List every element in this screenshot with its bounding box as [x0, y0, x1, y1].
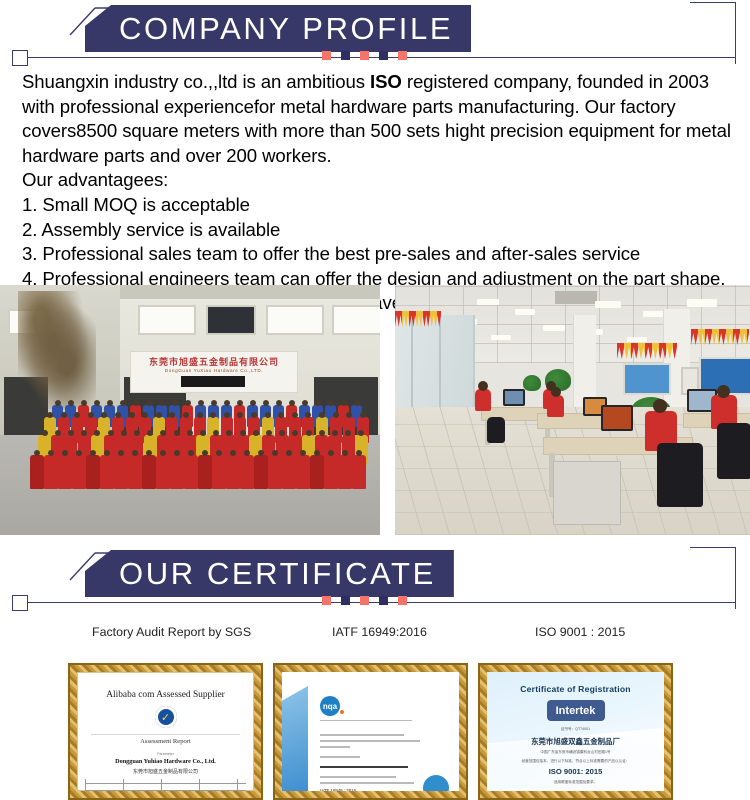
staff-head [68, 430, 74, 436]
staff-member [198, 455, 212, 489]
worker-head [551, 387, 561, 397]
window [266, 305, 324, 335]
staff-member [86, 455, 100, 489]
alibaba-assessed-supplier-certificate[interactable]: Alibaba com Assessed Supplier ✓ Assessme… [68, 663, 263, 800]
staff-head [253, 430, 259, 436]
signboard-english-text: DongGuan YuXiao Hardware Co.,LTD. [131, 368, 297, 373]
header-dot-5 [398, 51, 407, 60]
text-line [320, 776, 396, 778]
staff-head [118, 450, 124, 456]
staff-member [44, 455, 58, 489]
staff-head [174, 450, 180, 456]
staff-head [276, 400, 282, 406]
staff-head [272, 450, 278, 456]
staff-head [55, 400, 61, 406]
ceiling-light [687, 299, 717, 307]
nqa-logo-icon: nqa [320, 696, 340, 716]
building-roof [118, 285, 380, 299]
staff-head [224, 412, 230, 418]
staff-head [48, 450, 54, 456]
notice-board [623, 363, 671, 395]
certificate-address-cn: 中国广东省东莞市横沥镇康科台山村田路1号 [487, 750, 664, 755]
staff-head [240, 430, 246, 436]
staff-head [34, 450, 40, 456]
text-line [320, 746, 350, 748]
staff-member [268, 455, 282, 489]
office-photo [395, 285, 750, 535]
company-profile-header: COMPANY PROFILE [0, 0, 750, 68]
staff-head [61, 412, 67, 418]
certificate-label: Factory Audit Report by SGS [92, 625, 251, 639]
profile-intro-paragraph: Shuangxin industry co.,,ltd is an ambiti… [22, 70, 734, 168]
staff-head [211, 400, 217, 406]
certificate-footnote-cn: 适用覆盖标准范围及要求。 [487, 780, 664, 785]
staff-head [146, 400, 152, 406]
staff-head [314, 450, 320, 456]
desktop-pc-tower [553, 461, 621, 525]
led-display [181, 376, 245, 387]
staff-head [292, 412, 298, 418]
staff-head [328, 400, 334, 406]
potted-plant [523, 375, 541, 391]
staff-member [156, 455, 170, 489]
office-chair [717, 423, 750, 479]
intertek-iso9001-certificate[interactable]: Certificate of Registration Intertek 证书号… [478, 663, 673, 800]
advantage-item: 2. Assembly service is available [22, 218, 734, 243]
certificate-side-band: Registration [282, 686, 308, 791]
section-title: OUR CERTIFICATE [119, 558, 436, 589]
staff-head [360, 412, 366, 418]
staff-head [172, 400, 178, 406]
certificate-company-name-cn: 东莞市旭盛五金制品有限公司 [77, 768, 254, 775]
window [206, 305, 256, 335]
certificate-title: Certificate of Registration [487, 684, 664, 694]
header-corner-square-icon [12, 595, 28, 611]
nqa-iatf-certificate[interactable]: Registration nqa IATF 16949 : 2016 [273, 663, 468, 800]
staff-head [315, 400, 321, 406]
staff-head [341, 400, 347, 406]
factory-signboard: 东莞市旭盛五金制品有限公司 DongGuan YuXiao Hardware C… [130, 351, 298, 393]
header-dot-3 [360, 596, 369, 605]
staff-head [68, 400, 74, 406]
ceiling-light [543, 325, 565, 331]
staff-head [237, 400, 243, 406]
staff-head [289, 400, 295, 406]
company-profile-title-plate: COMPANY PROFILE [85, 5, 471, 52]
staff-head [121, 430, 127, 436]
text-line [320, 756, 360, 758]
header-dot-4 [379, 596, 388, 605]
staff-head [342, 450, 348, 456]
certificate-param-label: Parameter [77, 752, 254, 756]
factory-group-photo: 东莞市旭盛五金制品有限公司 DongGuan YuXiao Hardware C… [0, 285, 380, 535]
nqa-logo-text: nqa [323, 702, 337, 711]
staff-head [183, 412, 189, 418]
staff-member [114, 455, 128, 489]
company-profile-text: Shuangxin industry co.,,ltd is an ambiti… [22, 70, 734, 316]
certificate-image-row: Alibaba com Assessed Supplier ✓ Assessme… [0, 663, 750, 800]
staff-member [128, 455, 142, 489]
certificate-standard: IATF 16949 : 2016 [320, 788, 356, 791]
monitor [503, 389, 525, 406]
staff-head [265, 412, 271, 418]
staff-head [263, 400, 269, 406]
text-line [320, 740, 420, 742]
our-certificate-header: OUR CERTIFICATE [0, 545, 750, 613]
header-dot-1 [322, 51, 331, 60]
header-dot-row [322, 51, 407, 60]
office-chair [487, 417, 505, 443]
staff-head [244, 450, 250, 456]
staff-head [224, 400, 230, 406]
header-dot-1 [322, 596, 331, 605]
staff-head [197, 412, 203, 418]
staff-head [306, 430, 312, 436]
staff-member [30, 455, 44, 489]
certificate-label-row: Factory Audit Report by SGS IATF 16949:2… [0, 625, 750, 647]
staff-member [338, 455, 352, 489]
staff-head [159, 400, 165, 406]
alibaba-seal-icon: ✓ [155, 706, 177, 728]
header-dot-row [322, 596, 407, 605]
staff-head [286, 450, 292, 456]
staff-head [332, 430, 338, 436]
staff-member [282, 455, 296, 489]
window [138, 305, 196, 335]
staff-head [302, 400, 308, 406]
staff-head [174, 430, 180, 436]
staff-member [100, 455, 114, 489]
advantage-item: 3. Professional sales team to offer the … [22, 242, 734, 267]
staff-head [250, 400, 256, 406]
header-dot-3 [360, 51, 369, 60]
tree [18, 291, 96, 409]
staff-head [188, 450, 194, 456]
worker-head [478, 381, 488, 391]
certificate-label: ISO 9001 : 2015 [535, 625, 625, 639]
office-worker [475, 389, 491, 411]
staff-group [0, 403, 380, 498]
factory-photo-row: 东莞市旭盛五金制品有限公司 DongGuan YuXiao Hardware C… [0, 285, 750, 535]
ceiling-light [515, 309, 535, 315]
staff-head [356, 450, 362, 456]
staff-member [72, 455, 86, 489]
certificate-standard: ISO 9001: 2015 [487, 767, 664, 776]
profile-iso-keyword: ISO [370, 71, 402, 92]
staff-head [132, 450, 138, 456]
staff-head [146, 450, 152, 456]
ceiling-light [491, 335, 511, 340]
our-certificate-title-plate: OUR CERTIFICATE [85, 550, 454, 597]
divider [91, 734, 240, 735]
staff-head [230, 450, 236, 456]
certificate-company-name-cn: 东莞市旭盛双鑫五金制品厂 [487, 736, 664, 747]
staff-member [212, 455, 226, 489]
window [332, 305, 380, 335]
staff-head [120, 400, 126, 406]
advantages-heading: Our advantagees: [22, 168, 734, 193]
staff-head [216, 450, 222, 456]
staff-member [58, 455, 72, 489]
staff-member [254, 455, 268, 489]
advantage-item: 1. Small MOQ is acceptable [22, 193, 734, 218]
staff-head [251, 412, 257, 418]
staff-head [198, 400, 204, 406]
text-line [320, 766, 408, 768]
worker-head [653, 399, 667, 413]
staff-head [94, 400, 100, 406]
page-title: COMPANY PROFILE [119, 13, 453, 44]
ceiling-light [477, 299, 499, 305]
certificate-company-name: Dongguan Yuhiao Hardware Co., Ltd. [77, 758, 254, 765]
staff-head [81, 400, 87, 406]
staff-member [352, 455, 366, 489]
staff-head [134, 430, 140, 436]
staff-head [266, 430, 272, 436]
certificate-detail-table [85, 779, 246, 791]
staff-head [104, 450, 110, 456]
staff-head [88, 412, 94, 418]
staff-member [184, 455, 198, 489]
staff-head [333, 412, 339, 418]
certificate-label: IATF 16949:2016 [332, 625, 427, 639]
staff-head [354, 400, 360, 406]
staff-member [324, 455, 338, 489]
certificate-meta: 证书号：QT74001 [487, 727, 664, 732]
text-line [320, 720, 412, 721]
staff-head [258, 450, 264, 456]
staff-head [185, 400, 191, 406]
header-frame-top-right [690, 547, 736, 548]
staff-head [200, 430, 206, 436]
staff-head [319, 430, 325, 436]
ceiling-light [627, 337, 647, 342]
staff-head [156, 412, 162, 418]
ceiling-light [595, 301, 621, 308]
office-worker [547, 395, 564, 417]
staff-head [300, 450, 306, 456]
monitor [601, 405, 633, 431]
staff-head [319, 412, 325, 418]
ceiling-vent [555, 291, 597, 304]
staff-member [170, 455, 184, 489]
office-chair [657, 443, 703, 507]
staff-head [108, 430, 114, 436]
header-dot-4 [379, 51, 388, 60]
staff-head [115, 412, 121, 418]
staff-head [328, 450, 334, 456]
header-dot-2 [341, 51, 350, 60]
certificate-scope-cn: 经营范围包括本、进行以下标准、符合以上标准需要的产品以认证： [487, 759, 664, 764]
header-frame-right [735, 547, 736, 609]
header-frame-top-right [690, 2, 736, 3]
staff-head [76, 450, 82, 456]
staff-head [42, 430, 48, 436]
staff-member [310, 455, 324, 489]
intertek-logo-text: Intertek [556, 705, 596, 717]
header-dot-5 [398, 596, 407, 605]
text-line [320, 782, 414, 784]
header-corner-square-icon [12, 50, 28, 66]
staff-head [133, 400, 139, 406]
staff-head [55, 430, 61, 436]
header-frame-right [735, 2, 736, 64]
staff-head [107, 400, 113, 406]
staff-member [296, 455, 310, 489]
certificate-subtitle: Assessment Report [77, 738, 254, 745]
intertek-logo-icon: Intertek [547, 700, 605, 721]
staff-head [160, 450, 166, 456]
staff-head [187, 430, 193, 436]
header-dot-2 [341, 596, 350, 605]
text-line [320, 734, 404, 736]
staff-member [142, 455, 156, 489]
staff-member [226, 455, 240, 489]
certificate-title: Alibaba com Assessed Supplier [77, 690, 254, 700]
staff-head [202, 450, 208, 456]
worker-head [717, 385, 730, 398]
profile-intro-part1: Shuangxin industry co.,,ltd is an ambiti… [22, 71, 370, 92]
staff-head [129, 412, 135, 418]
staff-member [240, 455, 254, 489]
staff-head [62, 450, 68, 456]
signboard-chinese-text: 东莞市旭盛五金制品有限公司 [131, 355, 297, 368]
staff-head [90, 450, 96, 456]
staff-head [47, 412, 53, 418]
